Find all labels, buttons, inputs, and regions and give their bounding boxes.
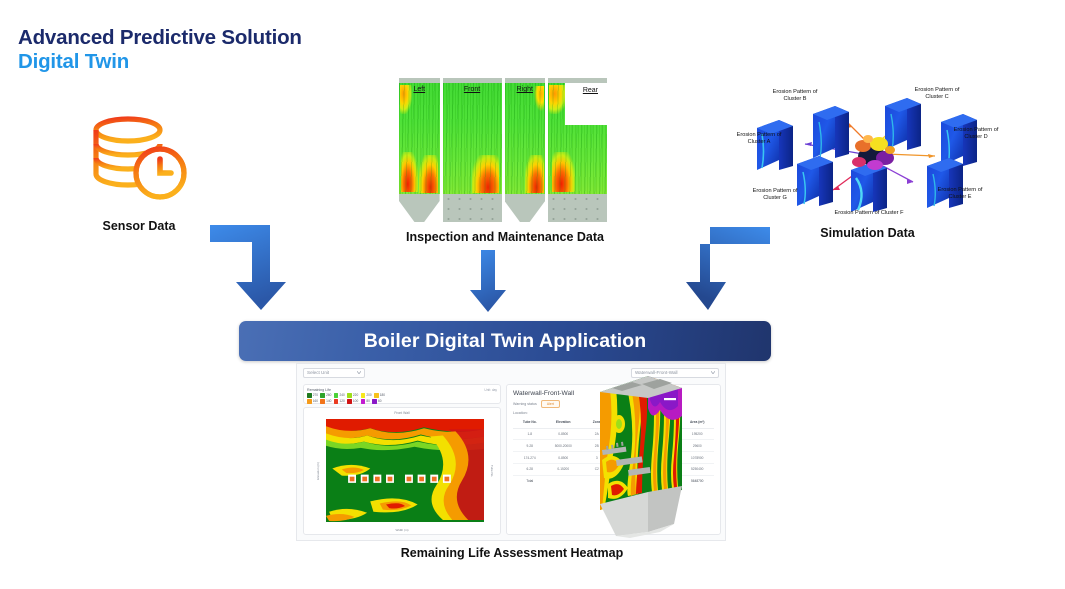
legend-swatch [320,399,325,404]
warning-status-label: Warning status [513,402,537,406]
legend-value: 270 [313,393,318,397]
legend-item: 100 [347,399,358,404]
wall-panel-rear: Rear [548,78,607,222]
panel-heatmap [505,83,546,194]
inspection-maintenance-image: Left Front Right [399,78,607,222]
legend-item: 140 [320,399,331,404]
slide-canvas: Advanced Predictive Solution Digital Twi… [0,0,1065,589]
legend-row-2: 160 140 120 100 80 60 [307,399,497,404]
panel-hopper [443,194,502,222]
panel-hopper [505,194,546,222]
wall-panel-front: Front [443,78,502,222]
panel-hopper [548,194,607,222]
database-clock-icon [84,110,194,206]
heatmap-xlabel: Width (m) [304,528,500,532]
legend-swatch [307,399,312,404]
col-elevation: Elevation [547,418,581,428]
cluster-label-b: Erosion Pattern of Cluster B [763,89,827,103]
legend-title: Remaining Life [307,388,331,392]
center-arrow [468,248,508,316]
cluster-label-g: Erosion Pattern of Cluster G [743,188,807,202]
legend-swatch [361,399,366,404]
cluster-label-a: Erosion Pattern of Cluster A [727,132,791,146]
legend-item: 260 [320,393,331,398]
sensor-data-caption: Sensor Data [59,219,219,233]
front-wall-heatmap-card: Front Wall 48.0 0 Elevation (m) Tube No. [303,407,501,535]
legend-unit: Unit: day [484,388,497,392]
legend-row-1: 270 260 240 220 200 180 [307,393,497,398]
chevron-down-icon [711,371,715,374]
legend-swatch [334,399,339,404]
cell: 5000-20000 [547,440,581,452]
cluster-label-e: Erosion Pattern of Cluster E [927,187,993,201]
cluster-label-d: Erosion Pattern of Cluster D [943,127,1009,141]
simulation-data-image: Erosion Pattern of Cluster A Erosion Pat… [735,82,1003,222]
legend-value: 260 [326,393,331,397]
panel-heatmap [443,83,502,194]
cluster-label-c: Erosion Pattern of Cluster C [905,87,969,101]
legend-item: 220 [347,393,358,398]
legend-value: 240 [340,393,345,397]
legend-swatch [374,393,379,398]
legend-swatch [347,399,352,404]
panel-label: Left [413,86,425,93]
panel-label: Front [464,86,480,93]
boiler-3d-heatmap [586,364,694,540]
legend-value: 220 [353,393,358,397]
legend-item: 60 [372,399,381,404]
panel-label: Rear [580,86,601,95]
unit-select-value: Select Unit [307,370,329,375]
legend-item: 200 [361,393,372,398]
banner-label: Boiler Digital Twin Application [364,330,647,353]
cell: 174-274 [513,452,547,464]
legend-value: 120 [340,399,345,403]
legend-value: 200 [366,393,371,397]
total-label: Total [513,475,547,486]
legend-value: 100 [353,399,358,403]
panel-label: Right [517,86,533,93]
left-arrow [204,220,302,315]
heatmap-plot [326,419,484,522]
legend-swatch [347,393,352,398]
legend-value: 60 [378,399,382,403]
cell: 1-8 [513,428,547,440]
legend-swatch [372,399,377,404]
heatmap-ylabel-right: Tube No. [490,465,494,477]
wall-panel-right: Right [505,78,546,222]
cell: 6-28 [513,463,547,475]
panel-heatmap [399,83,440,194]
heatmap-title: Front Wall [307,411,497,415]
legend-value: 140 [326,399,331,403]
col-tube-no: Tube No. [513,418,547,428]
legend-item: 270 [307,393,318,398]
legend-value: 80 [366,399,370,403]
inspection-data-caption: Inspection and Maintenance Data [355,230,655,244]
title-line-2: Digital Twin [18,50,302,74]
legend-swatch [334,393,339,398]
legend-item: 180 [374,393,385,398]
legend-item: 120 [334,399,345,404]
legend-item: 240 [334,393,345,398]
legend-swatch [320,393,325,398]
legend-item: 80 [361,399,370,404]
cell: 0-8500 [547,428,581,440]
page-title: Advanced Predictive Solution Digital Twi… [18,26,302,74]
panel-hopper [399,194,440,222]
cell: 9-28 [513,440,547,452]
chevron-down-icon [357,371,361,374]
legend-value: 160 [313,399,318,403]
status-badge: Alert [541,400,560,408]
wall-panel-left: Left [399,78,440,222]
bottom-caption: Remaining Life Assessment Heatmap [322,546,702,560]
legend-swatch [307,393,312,398]
legend-item: 160 [307,399,318,404]
boiler-digital-twin-banner[interactable]: Boiler Digital Twin Application [239,321,771,361]
cluster-label-f: Erosion Pattern of Cluster F [813,210,925,217]
unit-select-dropdown[interactable]: Select Unit [303,368,365,378]
heatmap-ylabel-left: Elevation (m) [316,462,320,480]
title-line-1: Advanced Predictive Solution [18,26,302,50]
simulation-data-caption: Simulation Data [740,226,995,240]
legend-value: 180 [380,393,385,397]
right-arrow [680,224,776,316]
legend-swatch [361,393,366,398]
cell: 0-8500 [547,452,581,464]
remaining-life-legend: Remaining Life Unit: day 270 260 240 220… [303,384,501,404]
cell: 0-15200 [547,463,581,475]
